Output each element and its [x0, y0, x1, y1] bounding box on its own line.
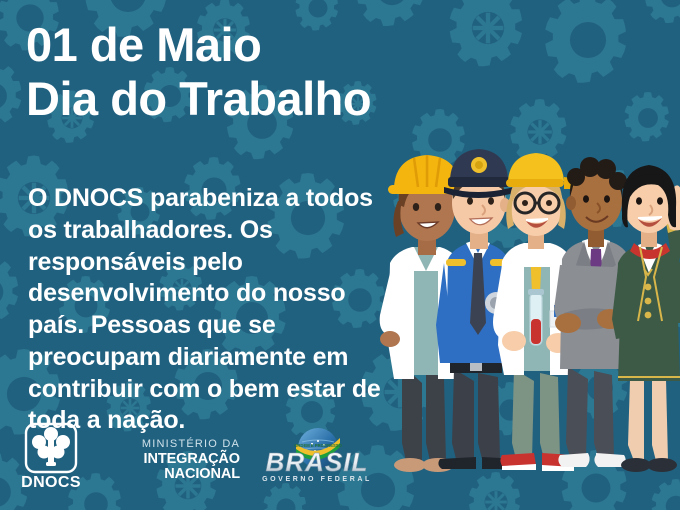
brasil-governo-federal-logo: ORDEM E PROGRESSO BRASIL GOVERNO FEDERAL	[252, 426, 382, 488]
dnocs-logo: DNOCS	[22, 422, 90, 492]
dnocs-wordmark: DNOCS	[22, 474, 81, 491]
poster-canvas: 01 de Maio Dia do Trabalho O DNOCS parab…	[0, 0, 680, 510]
ministerio-line-1: MINISTÉRIO DA	[86, 439, 240, 451]
ministerio-label: MINISTÉRIO DA INTEGRAÇÃO NACIONAL	[86, 439, 240, 482]
headline-line-2: Dia do Trabalho	[26, 76, 371, 122]
poster-headline: 01 de Maio Dia do Trabalho	[26, 22, 371, 122]
poster-body-text: O DNOCS parabeniza a todos os trabalhado…	[28, 183, 400, 437]
dnocs-tree-icon	[32, 427, 70, 466]
brasil-wordmark: BRASIL	[266, 447, 369, 477]
brasil-tagline: GOVERNO FEDERAL	[262, 476, 372, 483]
ministerio-line-2: INTEGRAÇÃO NACIONAL	[86, 452, 240, 482]
headline-line-1: 01 de Maio	[26, 22, 371, 68]
poster-footer: DNOCS MINISTÉRIO DA INTEGRAÇÃO NACIONAL	[0, 414, 680, 510]
